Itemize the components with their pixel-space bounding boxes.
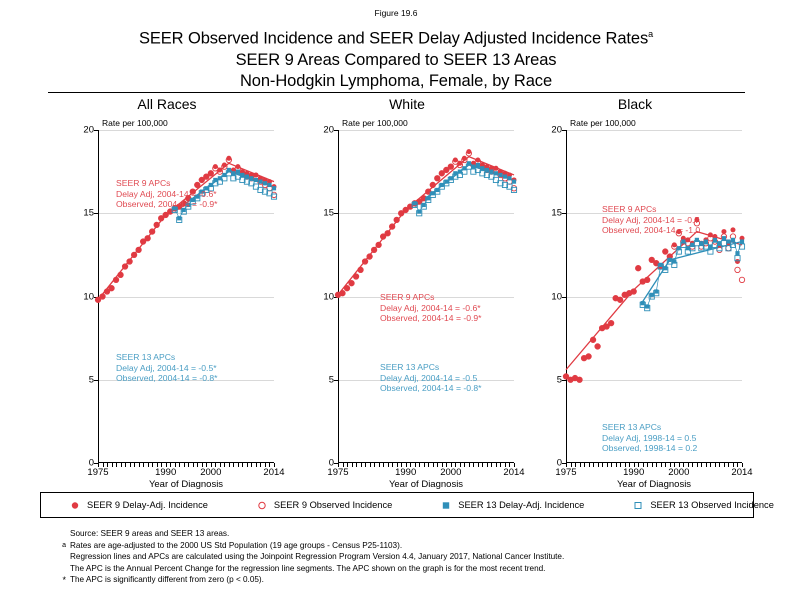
y-tick-label: 20: [551, 125, 562, 136]
legend-label: SEER 13 Observed Incidence: [650, 500, 774, 510]
apc-delay-adj-text: Delay Adj, 2004-14 = -0.7: [602, 215, 700, 226]
x-tick-mark: [496, 463, 497, 467]
x-tick-mark: [478, 463, 479, 467]
x-tick-mark: [580, 463, 581, 467]
seer9-apc-annotation: SEER 9 APCsDelay Adj, 2004-14 = -0.6*Obs…: [116, 178, 218, 210]
data-point: [735, 251, 739, 255]
x-tick-mark: [728, 463, 729, 467]
open-square-blue-icon: [632, 500, 645, 511]
seer9-trend-line: [566, 232, 742, 370]
x-tick-mark: [370, 463, 371, 467]
x-tick-label: 1990: [155, 467, 176, 478]
y-tick-label: 10: [83, 291, 94, 302]
data-point: [641, 301, 645, 305]
x-tick-mark: [620, 463, 621, 467]
data-point: [659, 263, 663, 267]
seer9-apc-annotation: SEER 9 APCsDelay Adj, 2004-14 = -0.6*Obs…: [380, 292, 482, 324]
x-tick-label: 2000: [668, 467, 689, 478]
x-tick-mark: [611, 463, 612, 467]
x-tick-mark: [247, 463, 248, 467]
x-tick-mark: [593, 463, 594, 467]
x-tick-mark: [710, 463, 711, 467]
x-tick-mark: [724, 463, 725, 467]
apc-delay-adj-text: Delay Adj, 2004-14 = -0.5*: [116, 363, 218, 374]
series-open-square: [640, 241, 744, 311]
y-axis-unit-label: Rate per 100,000: [342, 118, 408, 128]
x-tick-mark: [602, 463, 603, 467]
x-tick-mark: [238, 463, 239, 467]
apc-observed-text: Observed, 2004-14 = -1.0: [602, 225, 700, 236]
title-line-3: Non-Hodgkin Lymphoma, Female, by Race: [0, 71, 792, 92]
title-line-1-text: SEER Observed Incidence and SEER Delay A…: [139, 30, 648, 48]
x-tick-mark: [598, 463, 599, 467]
open-circle-red-icon: [256, 500, 269, 511]
legend-item[interactable]: SEER 13 Observed Incidence: [632, 500, 774, 511]
data-point: [695, 238, 699, 242]
x-tick-mark: [224, 463, 225, 467]
data-point: [258, 180, 262, 184]
x-tick-mark: [437, 463, 438, 467]
y-tick-label: 10: [551, 291, 562, 302]
data-point: [177, 216, 181, 220]
x-tick-mark: [428, 463, 429, 467]
apc-delay-adj-text: Delay Adj, 2004-14 = -0.6*: [380, 303, 482, 314]
data-point: [668, 258, 672, 262]
footnote-row: *The APC is significantly different from…: [54, 574, 754, 586]
footnote-marker: a: [54, 540, 66, 552]
x-tick-mark: [365, 463, 366, 467]
data-point: [739, 277, 744, 282]
series-filled-square: [641, 236, 744, 308]
figure-root: Figure 19.6 SEER Observed Incidence and …: [0, 0, 792, 612]
data-point: [413, 201, 417, 205]
data-point: [507, 176, 511, 180]
x-tick-mark: [500, 463, 501, 467]
x-tick-mark: [379, 463, 380, 467]
legend-box: SEER 9 Delay-Adj. IncidenceSEER 9 Observ…: [40, 492, 754, 518]
x-tick-mark: [607, 463, 608, 467]
x-tick-mark: [383, 463, 384, 467]
data-point: [263, 181, 267, 185]
x-tick-label: 2014: [263, 467, 284, 478]
y-tick-label: 20: [83, 125, 94, 136]
footnote-row: Source: SEER 9 areas and SEER 13 areas.: [54, 528, 754, 540]
data-point: [717, 247, 722, 252]
x-tick-mark: [706, 463, 707, 467]
plot-inner: 051015201975199020002014SEER 9 APCsDelay…: [98, 130, 274, 463]
x-tick-mark: [419, 463, 420, 467]
x-tick-mark: [715, 463, 716, 467]
apc-observed-text: Observed, 2004-14 = -0.8*: [380, 383, 482, 394]
legend-label: SEER 13 Delay-Adj. Incidence: [458, 500, 584, 510]
data-point: [731, 238, 735, 242]
footnote-text: The APC is the Annual Percent Change for…: [70, 564, 545, 573]
legend-item[interactable]: SEER 9 Observed Incidence: [256, 500, 392, 511]
title-superscript-a: a: [648, 29, 653, 39]
x-tick-mark: [433, 463, 434, 467]
apc-header-text: SEER 13 APCs: [116, 352, 218, 363]
apc-observed-text: Observed, 2004-14 = -0.9*: [116, 199, 218, 210]
x-tick-mark: [661, 463, 662, 467]
x-tick-label: 2014: [731, 467, 752, 478]
apc-delay-adj-text: Delay Adj, 2004-14 = -0.6*: [116, 189, 218, 200]
panel-title: White: [284, 96, 530, 112]
x-tick-mark: [125, 463, 126, 467]
x-tick-mark: [464, 463, 465, 467]
x-axis-title: Year of Diagnosis: [338, 479, 514, 490]
footnote-row: aRates are age-adjusted to the 2000 US S…: [54, 540, 754, 552]
x-tick-mark: [193, 463, 194, 467]
legend-item[interactable]: SEER 13 Delay-Adj. Incidence: [440, 500, 584, 511]
data-point: [467, 161, 471, 165]
data-point: [272, 186, 276, 190]
x-tick-label: 1990: [395, 467, 416, 478]
x-tick-mark: [352, 463, 353, 467]
data-point: [503, 175, 507, 179]
x-tick-mark: [242, 463, 243, 467]
panel-white: WhiteRate per 100,0000510152019751990200…: [284, 96, 530, 488]
x-tick-mark: [179, 463, 180, 467]
x-tick-mark: [701, 463, 702, 467]
x-tick-mark: [143, 463, 144, 467]
data-point: [227, 168, 231, 172]
x-tick-mark: [229, 463, 230, 467]
x-tick-mark: [656, 463, 657, 467]
y-tick-label: 15: [323, 208, 334, 219]
data-point: [735, 267, 740, 272]
plot-area: 051015201975199020002014SEER 9 APCsDelay…: [98, 130, 274, 463]
apc-header-text: SEER 9 APCs: [116, 178, 218, 189]
x-tick-label: 2000: [440, 467, 461, 478]
footnote-row: Regression lines and APCs are calculated…: [54, 551, 754, 563]
seer13-connector-line: [643, 238, 742, 306]
footnotes: Source: SEER 9 areas and SEER 13 areas.a…: [54, 528, 754, 586]
apc-header-text: SEER 9 APCs: [380, 292, 482, 303]
x-tick-mark: [473, 463, 474, 467]
x-tick-mark: [491, 463, 492, 467]
data-series-layer: [566, 130, 742, 463]
plot-area: 051015201975199020002014SEER 9 APCsDelay…: [566, 130, 742, 463]
y-tick-label: 15: [551, 208, 562, 219]
footnote-marker: *: [54, 575, 66, 587]
x-tick-mark: [112, 463, 113, 467]
data-point: [422, 203, 426, 207]
x-tick-mark: [260, 463, 261, 467]
apc-delay-adj-text: Delay Adj, 1998-14 = 0.5: [602, 433, 697, 444]
x-tick-mark: [256, 463, 257, 467]
x-tick-mark: [692, 463, 693, 467]
x-tick-mark: [697, 463, 698, 467]
footnote-text: The APC is significantly different from …: [70, 575, 264, 584]
data-point: [236, 170, 240, 174]
x-tick-mark: [469, 463, 470, 467]
x-tick-mark: [487, 463, 488, 467]
data-point: [704, 239, 708, 243]
x-tick-mark: [361, 463, 362, 467]
y-axis-unit-label: Rate per 100,000: [570, 118, 636, 128]
legend-label: SEER 9 Observed Incidence: [274, 500, 392, 510]
apc-header-text: SEER 13 APCs: [602, 422, 697, 433]
x-tick-label: 2000: [200, 467, 221, 478]
x-tick-mark: [616, 463, 617, 467]
footnote-text: Source: SEER 9 areas and SEER 13 areas.: [70, 529, 229, 538]
apc-header-text: SEER 9 APCs: [602, 204, 700, 215]
title-line-1: SEER Observed Incidence and SEER Delay A…: [0, 24, 792, 50]
x-tick-label: 1975: [555, 467, 576, 478]
seer13-apc-annotation: SEER 13 APCsDelay Adj, 2004-14 = -0.5Obs…: [380, 362, 482, 394]
x-tick-mark: [584, 463, 585, 467]
panel-all-races: All RacesRate per 100,000051015201975199…: [44, 96, 290, 488]
panel-black: BlackRate per 100,0000510152019751990200…: [512, 96, 758, 488]
x-tick-mark: [424, 463, 425, 467]
seer13-apc-annotation: SEER 13 APCsDelay Adj, 2004-14 = -0.5*Ob…: [116, 352, 218, 384]
data-point: [267, 183, 271, 187]
x-tick-mark: [130, 463, 131, 467]
legend-item[interactable]: SEER 9 Delay-Adj. Incidence: [69, 500, 208, 511]
data-point: [476, 163, 480, 167]
y-tick-label: 15: [83, 208, 94, 219]
data-point: [735, 259, 740, 264]
data-point: [721, 229, 726, 234]
plot-inner: 051015201975199020002014SEER 9 APCsDelay…: [566, 130, 742, 463]
x-tick-mark: [356, 463, 357, 467]
x-tick-mark: [392, 463, 393, 467]
x-tick-mark: [139, 463, 140, 467]
plot-area: 051015201975199020002014SEER 9 APCsDelay…: [338, 130, 514, 463]
x-tick-mark: [652, 463, 653, 467]
apc-observed-text: Observed, 1998-14 = 0.2: [602, 443, 697, 454]
apc-observed-text: Observed, 2004-14 = -0.9*: [380, 313, 482, 324]
filled-circle-red-icon: [69, 500, 82, 511]
data-point: [730, 227, 735, 232]
x-tick-mark: [184, 463, 185, 467]
x-axis-title: Year of Diagnosis: [98, 479, 274, 490]
header-divider: [48, 92, 745, 93]
footnote-text: Regression lines and APCs are calculated…: [70, 552, 564, 561]
apc-header-text: SEER 13 APCs: [380, 362, 482, 373]
x-tick-mark: [148, 463, 149, 467]
x-tick-mark: [152, 463, 153, 467]
x-tick-mark: [374, 463, 375, 467]
title-line-2: SEER 9 Areas Compared to SEER 13 Areas: [0, 50, 792, 71]
legend-items: SEER 9 Delay-Adj. IncidenceSEER 9 Observ…: [41, 493, 753, 517]
x-tick-mark: [116, 463, 117, 467]
data-point: [681, 239, 685, 243]
x-tick-label: 1990: [623, 467, 644, 478]
x-tick-mark: [121, 463, 122, 467]
data-point: [713, 238, 717, 242]
x-axis-title: Year of Diagnosis: [566, 479, 742, 490]
x-tick-mark: [188, 463, 189, 467]
x-tick-label: 1975: [87, 467, 108, 478]
footnote-text: Rates are age-adjusted to the 2000 US St…: [70, 541, 402, 550]
panel-title: All Races: [44, 96, 290, 112]
x-tick-mark: [251, 463, 252, 467]
legend-label: SEER 9 Delay-Adj. Incidence: [87, 500, 208, 510]
apc-observed-text: Observed, 2004-14 = -0.8*: [116, 373, 218, 384]
title-block: SEER Observed Incidence and SEER Delay A…: [0, 24, 792, 92]
x-tick-mark: [197, 463, 198, 467]
seer9-apc-annotation: SEER 9 APCsDelay Adj, 2004-14 = -0.7Obse…: [602, 204, 700, 236]
filled-square-blue-icon: [440, 500, 453, 511]
panel-title: Black: [512, 96, 758, 112]
apc-delay-adj-text: Delay Adj, 2004-14 = -0.5: [380, 373, 482, 384]
data-point: [498, 173, 502, 177]
x-tick-mark: [665, 463, 666, 467]
footnote-row: The APC is the Annual Percent Change for…: [54, 563, 754, 575]
data-point: [722, 236, 726, 240]
x-tick-mark: [719, 463, 720, 467]
x-tick-mark: [388, 463, 389, 467]
x-tick-mark: [589, 463, 590, 467]
y-tick-label: 20: [323, 125, 334, 136]
y-tick-label: 10: [323, 291, 334, 302]
plot-inner: 051015201975199020002014SEER 9 APCsDelay…: [338, 130, 514, 463]
x-tick-mark: [233, 463, 234, 467]
x-tick-mark: [647, 463, 648, 467]
data-point: [740, 239, 744, 243]
x-tick-mark: [134, 463, 135, 467]
seer13-apc-annotation: SEER 13 APCsDelay Adj, 1998-14 = 0.5Obse…: [602, 422, 697, 454]
data-point: [417, 209, 421, 213]
figure-number: Figure 19.6: [0, 8, 792, 18]
y-axis-unit-label: Rate per 100,000: [102, 118, 168, 128]
x-tick-mark: [482, 463, 483, 467]
panel-container: All RacesRate per 100,000051015201975199…: [0, 96, 792, 488]
data-point: [654, 289, 658, 293]
x-tick-label: 1975: [327, 467, 348, 478]
